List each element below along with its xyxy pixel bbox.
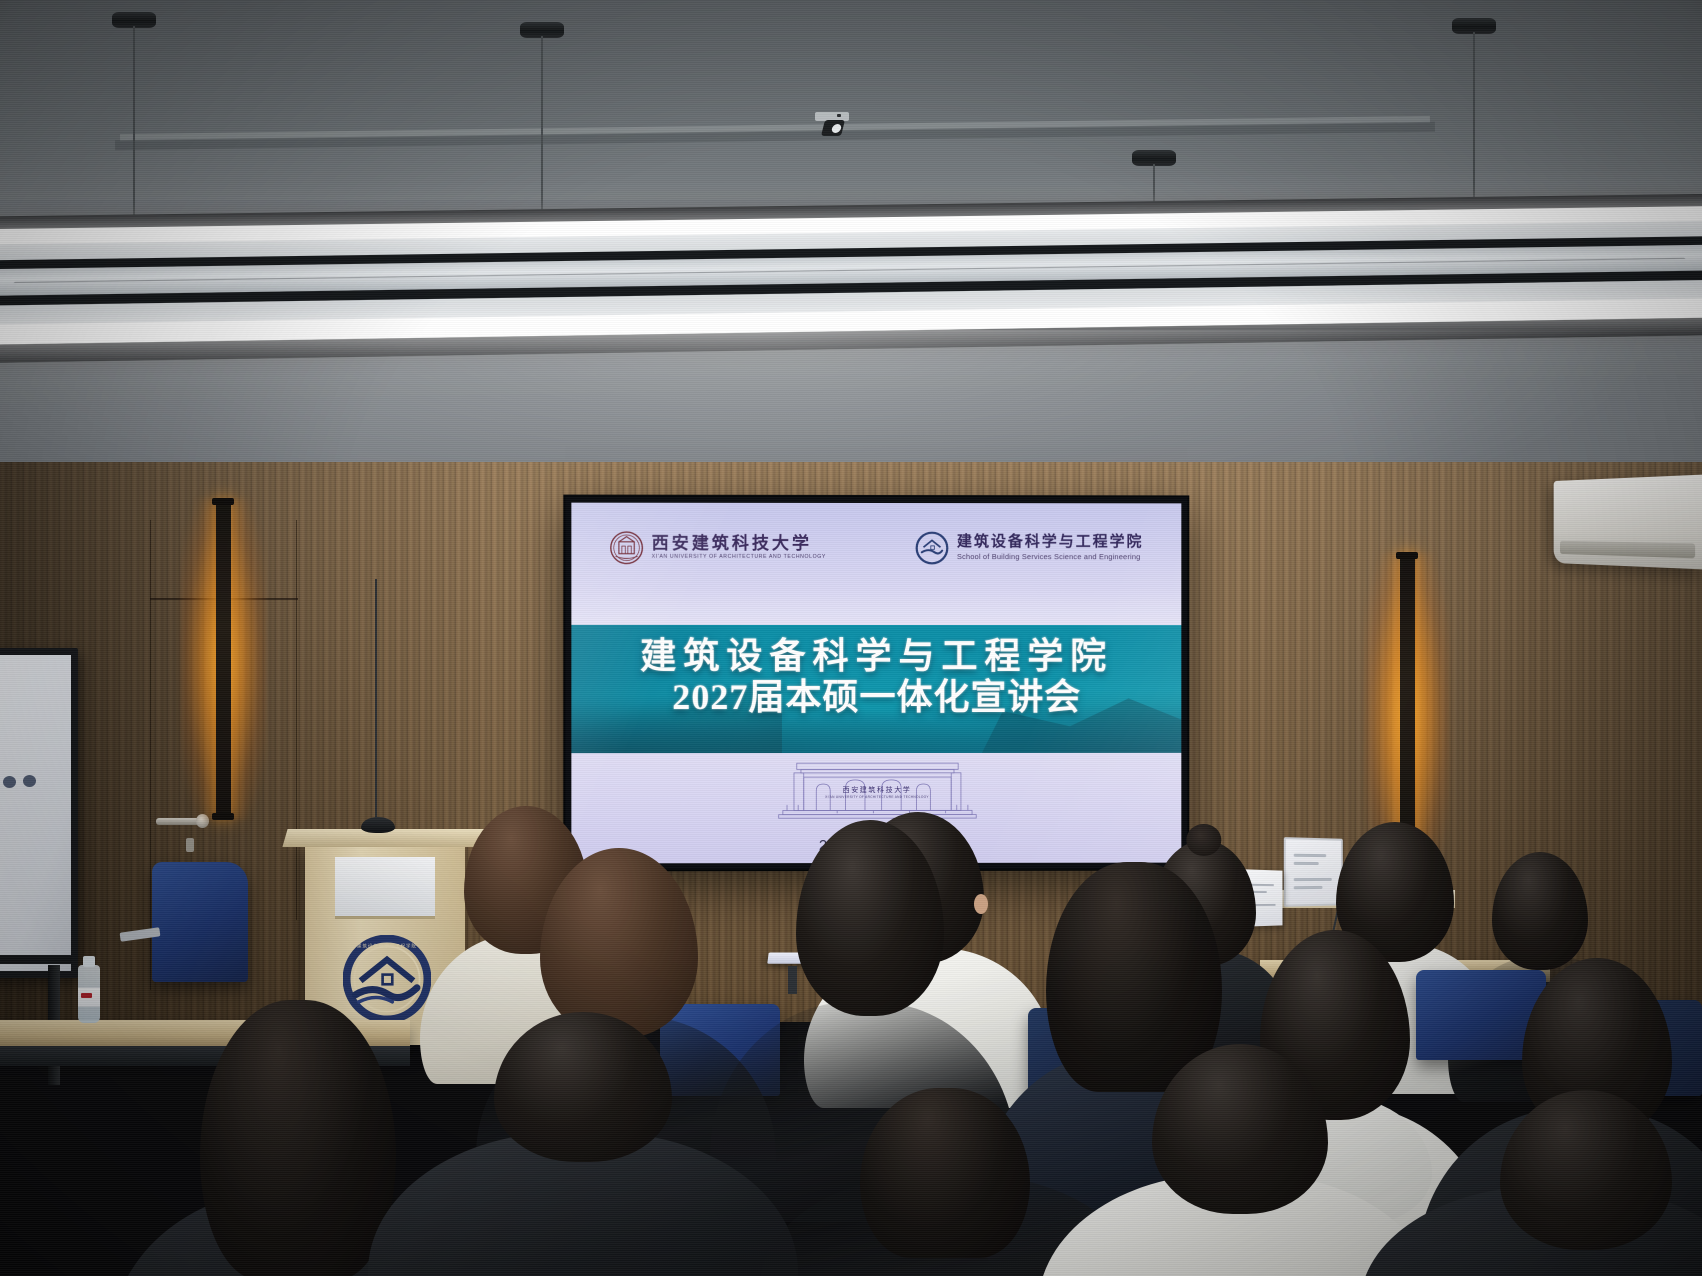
head [860,1088,1030,1258]
university-name-cn: 西安建筑科技大学 [652,535,826,553]
school-logo: 建筑设备科学与工程学院 School of Building Services … [915,531,1144,565]
lectern-control-panel[interactable] [335,857,435,919]
vertical-led-sconce-icon [216,502,231,816]
chair-presenter[interactable] [152,862,248,982]
gate-caption-cn: 西安建筑科技大学 [825,785,929,795]
whiteboard-dot [23,775,36,787]
school-name-en: School of Building Services Science and … [957,553,1144,561]
ceiling-soffit [0,0,1702,200]
university-logo-text: 西安建筑科技大学 XI'AN UNIVERSITY OF ARCHITECTUR… [652,535,826,560]
head [494,1012,672,1162]
gate-caption-en: XI'AN UNIVERSITY OF ARCHITECTURE AND TEC… [825,795,929,799]
audience-member [1390,1090,1702,1276]
head [1500,1090,1672,1250]
pendant-wire [133,26,135,231]
water-bottle-icon[interactable] [78,965,100,1023]
ac-vent [1560,541,1695,559]
audience-member [790,1088,1090,1276]
head [540,848,698,1038]
ceiling-panel-seam [14,258,1686,283]
head [200,1000,396,1276]
school-logo-text: 建筑设备科学与工程学院 School of Building Services … [957,535,1144,561]
audience-member [1078,1044,1378,1276]
slide-logo-row: 西安建筑科技大学 XI'AN UNIVERSITY OF ARCHITECTUR… [571,525,1181,572]
suspended-light-frame [0,192,1702,368]
camera-indicator [837,114,841,117]
head [796,820,944,1016]
school-name-cn: 建筑设备科学与工程学院 [957,535,1144,551]
slide-title-block: 建筑设备科学与工程学院 2027届本硕一体化宣讲会 [571,625,1181,719]
head [1152,1044,1328,1214]
ceiling [0,0,1702,470]
sconce-cap-bottom [212,813,234,820]
security-camera-icon [815,112,849,138]
door-lock-icon [186,838,194,852]
monitor-text-line [1294,862,1319,865]
whiteboard-markings [0,775,51,895]
gooseneck-lamp-icon [353,799,393,833]
university-name-en: XI'AN UNIVERSITY OF ARCHITECTURE AND TEC… [652,555,826,561]
slide-content: 西安建筑科技大学 XI'AN UNIVERSITY OF ARCHITECTUR… [571,503,1181,864]
wall-sconce-left [180,498,266,820]
audience-member [408,1012,748,1276]
slide-title-line-1: 建筑设备科学与工程学院 [571,635,1181,678]
monitor-text-line [1294,886,1323,889]
lamp-arm [375,579,377,819]
pendant-wire [541,36,543,232]
whiteboard-dot [3,776,16,788]
sconce-cap-top [212,498,234,505]
slide-title-line-2: 2027届本硕一体化宣讲会 [571,677,1181,719]
lecture-hall-scene: 西安建筑科技大学 XI'AN UNIVERSITY OF ARCHITECTUR… [0,0,1702,1276]
whiteboard-squiggle [0,811,20,855]
gate-caption: 西安建筑科技大学 XI'AN UNIVERSITY OF ARCHITECTUR… [825,785,929,799]
sconce-cap-top [1396,552,1418,559]
door-edge-right [296,520,297,920]
lamp-shade [361,817,395,833]
university-logo: 西安建筑科技大学 XI'AN UNIVERSITY OF ARCHITECTUR… [610,531,826,565]
door-edge-left [150,520,151,990]
air-conditioner-icon [1554,475,1702,570]
ear [974,894,988,914]
whiteboard-icon [0,648,78,978]
bottle-label [78,987,100,1007]
head [1492,852,1588,970]
slide-title-band: 建筑设备科学与工程学院 2027届本硕一体化宣讲会 [571,625,1181,753]
whiteboard-tray [0,955,72,964]
svg-text:建筑设备科学与工程学院: 建筑设备科学与工程学院 [357,942,417,949]
school-emblem-icon [915,531,949,565]
university-crest-icon [610,531,644,565]
